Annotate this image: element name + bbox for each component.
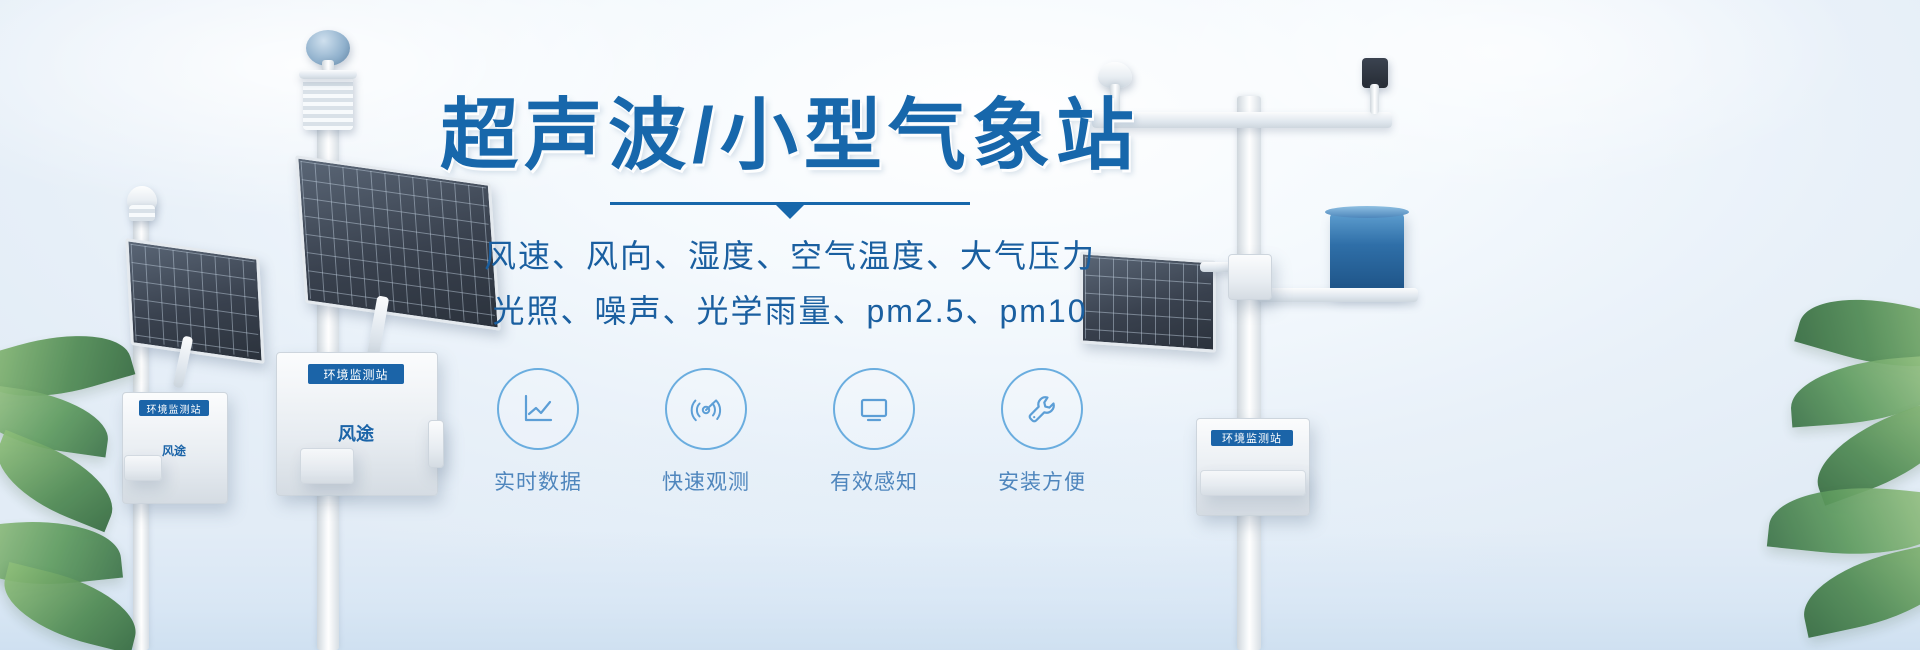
cabinet-vent — [300, 448, 354, 484]
instrument-shelf — [1258, 288, 1418, 302]
feature-label: 安装方便 — [976, 466, 1108, 496]
cabinet-vent — [124, 455, 162, 481]
mast-pole — [1237, 96, 1261, 650]
line-chart-icon — [497, 368, 579, 450]
optical-rain-gauge — [1330, 212, 1404, 294]
feature-label: 实时数据 — [472, 466, 604, 496]
product-banner: 环境监测站 风途 环境监测站 风途 — [0, 0, 1920, 650]
feature-item-realtime-data[interactable]: 实时数据 — [472, 368, 604, 496]
subtitle-line-1: 风速、风向、湿度、空气温度、大气压力 — [440, 231, 1140, 283]
page-title: 超声波/小型气象站 — [440, 96, 1140, 176]
radar-signal-icon — [665, 368, 747, 450]
feature-label: 有效感知 — [808, 466, 940, 496]
pole-clamp — [1228, 254, 1272, 300]
shield-top-cap — [299, 70, 357, 79]
feature-list: 实时数据 快速观测 — [440, 368, 1140, 496]
feature-item-easy-installation[interactable]: 安装方便 — [976, 368, 1108, 496]
feature-item-effective-sensing[interactable]: 有效感知 — [808, 368, 940, 496]
feature-label: 快速观测 — [640, 466, 772, 496]
wrench-icon — [1001, 368, 1083, 450]
solar-panel — [125, 238, 264, 364]
ground-gradient — [0, 530, 1920, 650]
cabinet-vent — [1200, 470, 1306, 496]
chevron-down-icon — [776, 205, 804, 219]
cabinet-label: 环境监测站 — [139, 400, 209, 416]
cabinet-label: 环境监测站 — [1211, 430, 1293, 446]
monitor-icon — [833, 368, 915, 450]
brand-label: 风途 — [338, 420, 374, 446]
cabinet-label: 环境监测站 — [308, 364, 404, 384]
title-divider — [610, 202, 970, 205]
feature-item-fast-observation[interactable]: 快速观测 — [640, 368, 772, 496]
radiation-shield-plates — [129, 205, 155, 221]
banner-content: 超声波/小型气象站 风速、风向、湿度、空气温度、大气压力 光照、噪声、光学雨量、… — [440, 96, 1140, 496]
rain-gauge-lip — [1325, 206, 1409, 218]
solar-cells — [131, 244, 260, 358]
radiation-shield-plates — [303, 78, 353, 130]
subtitle-line-2: 光照、噪声、光学雨量、pm2.5、pm10 — [440, 286, 1140, 338]
camera-stem — [1370, 84, 1379, 114]
brand-label: 风途 — [162, 442, 186, 459]
